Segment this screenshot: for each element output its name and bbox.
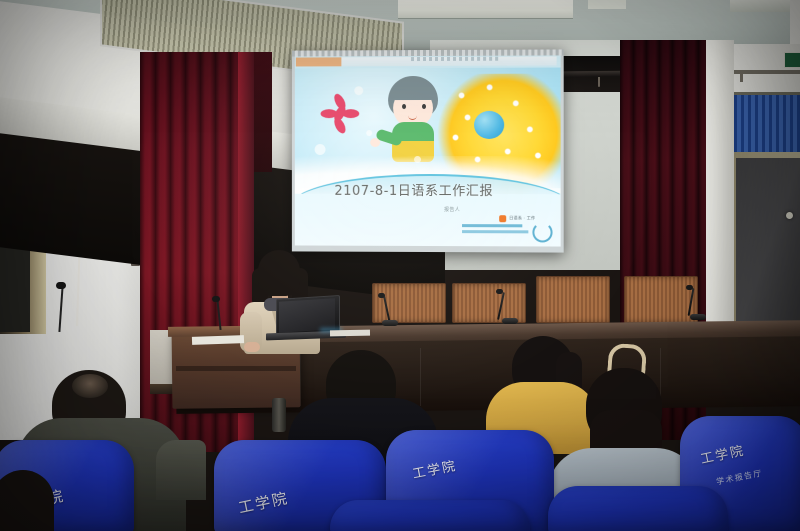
slide-presenter-name: 报告人 bbox=[444, 206, 460, 213]
microphone-icon bbox=[686, 285, 693, 290]
wicker-chair[interactable] bbox=[372, 283, 446, 323]
slide-logo-text: 日语系 · 工作 bbox=[509, 215, 535, 221]
red-flower-artwork bbox=[321, 94, 361, 134]
microphone-base bbox=[690, 314, 706, 320]
microphone-base bbox=[382, 320, 398, 326]
microphone-icon bbox=[496, 289, 503, 294]
slide-logo-mark bbox=[499, 215, 506, 222]
auditorium-chair[interactable] bbox=[548, 486, 728, 531]
presenter-hair bbox=[258, 250, 300, 296]
auditorium-chair[interactable] bbox=[330, 500, 530, 531]
slide-statusbar bbox=[295, 245, 561, 246]
globe-icon bbox=[474, 111, 504, 139]
bokeh-dot bbox=[315, 144, 326, 155]
slide-footer-logo-line2 bbox=[462, 230, 528, 233]
projection-screen: 2107-8-1日语系工作汇报 报告人 日语系 · 工作 bbox=[292, 49, 564, 252]
slide-footer-logo-line1 bbox=[462, 224, 522, 227]
blue-valance-curtain bbox=[734, 92, 800, 159]
projected-slide: 2107-8-1日语系工作汇报 报告人 日语系 · 工作 bbox=[295, 55, 561, 246]
child-fringe bbox=[390, 82, 436, 100]
door-knob-icon[interactable] bbox=[786, 212, 793, 219]
child-hand bbox=[370, 138, 380, 147]
audience-member-scalp bbox=[72, 374, 108, 398]
table-panel-divider bbox=[420, 348, 421, 406]
papers-on-table bbox=[330, 330, 370, 337]
microphone-icon bbox=[378, 293, 385, 298]
water-bottle bbox=[272, 398, 286, 432]
right-curtain-hook bbox=[740, 74, 743, 82]
bokeh-dot bbox=[354, 86, 363, 95]
wicker-chair[interactable] bbox=[536, 276, 610, 323]
wicker-chair[interactable] bbox=[624, 276, 698, 323]
microphone-base bbox=[502, 318, 518, 324]
ceiling-light-panel bbox=[398, 0, 573, 19]
audience-member-head bbox=[0, 470, 54, 531]
bokeh-dot bbox=[366, 130, 372, 136]
child-eye-right bbox=[422, 104, 426, 109]
presenter-hand bbox=[244, 342, 260, 352]
slide-footer-logo-swirl bbox=[532, 222, 552, 242]
audience-member-arm bbox=[156, 440, 206, 500]
ceiling-light-panel-small bbox=[588, 0, 626, 9]
podium-lip bbox=[176, 366, 296, 371]
ppt-tab[interactable] bbox=[296, 57, 342, 66]
ppt-titlebar-text bbox=[411, 57, 501, 61]
slide-title: 2107-8-1日语系工作汇报 bbox=[334, 180, 534, 199]
exit-sign-icon bbox=[784, 52, 800, 68]
conference-hall-photo: 2107-8-1日语系工作汇报 报告人 日语系 · 工作 bbox=[0, 0, 800, 531]
curtain-hook bbox=[598, 77, 600, 87]
wicker-chair[interactable] bbox=[452, 283, 526, 323]
podium-microphone-icon bbox=[212, 296, 220, 302]
child-eye-left bbox=[402, 104, 406, 109]
slide-footer-logo bbox=[462, 224, 553, 240]
microphone-icon bbox=[56, 282, 66, 289]
